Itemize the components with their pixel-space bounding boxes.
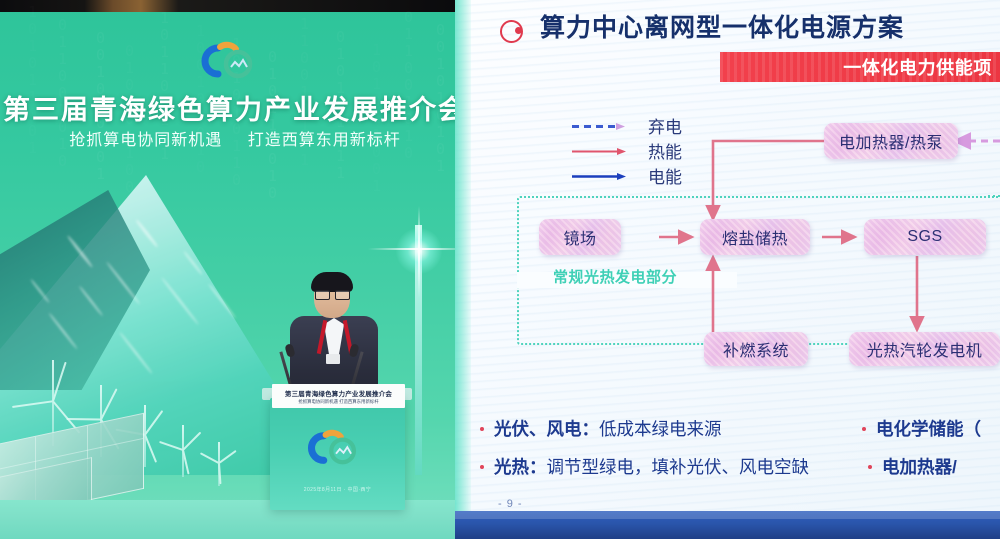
bullet-dot-pv-wind bbox=[480, 427, 484, 431]
podium-name-card: 第三届青海绿色算力产业发展推介会 抢抓算电协同新机遇 打造西算东用新标杆 bbox=[272, 384, 405, 408]
bullet-pv-wind: 光伏、风电：低成本绿电来源 bbox=[494, 416, 722, 441]
diagram-group-label: 常规光热发电部分 bbox=[553, 266, 677, 287]
conference-subtitle: 抢抓算电协同新机遇 打造西算东用新标杆 bbox=[0, 126, 470, 150]
legend-label-1: 热能 bbox=[648, 138, 682, 163]
speaker-glasses-right bbox=[335, 290, 350, 300]
bullet-row-1: 光伏、风电：低成本绿电来源 电化学储能（ bbox=[480, 416, 1000, 454]
ceiling-strip bbox=[0, 0, 470, 12]
tower-flare-vertical bbox=[418, 206, 420, 298]
wind-turbine bbox=[196, 442, 242, 486]
legend-label-2: 电能 bbox=[648, 163, 682, 188]
legend-row-1: 热能 bbox=[572, 139, 702, 164]
bullet-csp: 光热：调节型绿电，填补光伏、风电空缺 bbox=[494, 454, 809, 479]
node-sgs[interactable]: SGS bbox=[864, 219, 986, 255]
slide-left-edge-glow bbox=[455, 0, 471, 517]
slide-page-number: - 9 - bbox=[498, 498, 523, 510]
bullet-electric-heater: 电加热器/ bbox=[882, 454, 957, 479]
podium-date-location: 2025年8月11日 · 中国·西宁 bbox=[270, 486, 405, 493]
legend-electric-energy-icon bbox=[572, 173, 634, 180]
bullet-dot-electrochemical bbox=[862, 427, 866, 431]
bullet-csp-lead: 光热： bbox=[494, 457, 547, 477]
bullet-row-2: 光热：调节型绿电，填补光伏、风电空缺 电加热器/ bbox=[480, 454, 1000, 492]
conference-subtitle-right: 打造西算东用新标杆 bbox=[248, 132, 401, 149]
diagram-legend: 弃电 热能 电能 bbox=[572, 114, 702, 189]
bullet-dot-electric-heater bbox=[868, 465, 872, 469]
node-supplementary-combustion[interactable]: 补燃系统 bbox=[704, 332, 808, 366]
slide-title: 算力中心离网型一体化电源方案 bbox=[540, 8, 904, 44]
node-csp-steam-turbine-generator-label: 光热汽轮发电机 bbox=[867, 337, 983, 361]
podium-sign-line1: 第三届青海绿色算力产业发展推介会 bbox=[285, 388, 392, 398]
turbine-blade bbox=[200, 452, 220, 464]
podium-logo bbox=[303, 428, 369, 470]
bullet-electrochemical-storage: 电化学储能（ bbox=[876, 416, 981, 441]
bullet-dot-csp bbox=[480, 465, 484, 469]
node-mirror-field[interactable]: 镜场 bbox=[539, 219, 621, 255]
turbine-blade bbox=[159, 441, 183, 451]
turbine-blade bbox=[218, 450, 236, 464]
legend-curtailed-power-icon bbox=[572, 123, 634, 130]
ring-bullet-icon bbox=[500, 20, 523, 43]
slide-bottom-band-highlight bbox=[455, 511, 1000, 519]
legend-label-0: 弃电 bbox=[648, 113, 682, 138]
turbine-blade bbox=[218, 463, 221, 484]
node-electric-heater-heat-pump-label: 电加热器/热泵 bbox=[839, 129, 943, 153]
conference-subtitle-left: 抢抓算电协同新机遇 bbox=[69, 132, 222, 149]
speaker-badge bbox=[326, 354, 340, 364]
conference-stage-photo: 1010110010110010100010101010101011001011… bbox=[0, 0, 470, 539]
speaker-glasses-left bbox=[315, 290, 330, 300]
node-csp-steam-turbine-generator[interactable]: 光热汽轮发电机 bbox=[849, 332, 1000, 366]
legend-row-2: 电能 bbox=[572, 164, 702, 189]
node-supplementary-combustion-label: 补燃系统 bbox=[723, 337, 789, 361]
node-sgs-label: SGS bbox=[907, 228, 942, 246]
node-electric-heater-heat-pump[interactable]: 电加热器/热泵 bbox=[824, 123, 958, 159]
podium-sign-line2: 抢抓算电协同新机遇 打造西算东用新标杆 bbox=[298, 399, 378, 405]
bullet-csp-rest: 调节型绿电，填补光伏、风电空缺 bbox=[547, 457, 810, 477]
qinghai-green-computing-logo bbox=[196, 40, 266, 84]
turbine-blade bbox=[100, 388, 117, 420]
turbine-blade bbox=[144, 434, 157, 462]
node-molten-salt-storage-label: 熔盐储热 bbox=[722, 225, 788, 249]
bullet-pv-wind-lead: 光伏、风电： bbox=[494, 419, 599, 439]
conference-title: 第三届青海绿色算力产业发展推介会 bbox=[0, 88, 470, 127]
turbine-blade bbox=[52, 362, 67, 402]
slide-bullet-list: 光伏、风电：低成本绿电来源 电化学储能（ 光热：调节型绿电，填补光伏、风电空缺 … bbox=[480, 416, 1000, 492]
bullet-pv-wind-rest: 低成本绿电来源 bbox=[599, 419, 722, 439]
legend-thermal-energy-icon bbox=[572, 148, 634, 155]
red-banner-text: 一体化电力供能项 bbox=[720, 52, 992, 82]
node-molten-salt-storage[interactable]: 熔盐储热 bbox=[700, 219, 810, 255]
screenshot-root: 1010110010110010100010101010101011001011… bbox=[0, 0, 1000, 539]
node-mirror-field-label: 镜场 bbox=[563, 225, 596, 249]
legend-row-0: 弃电 bbox=[572, 114, 702, 139]
speaker-hair bbox=[311, 272, 353, 292]
